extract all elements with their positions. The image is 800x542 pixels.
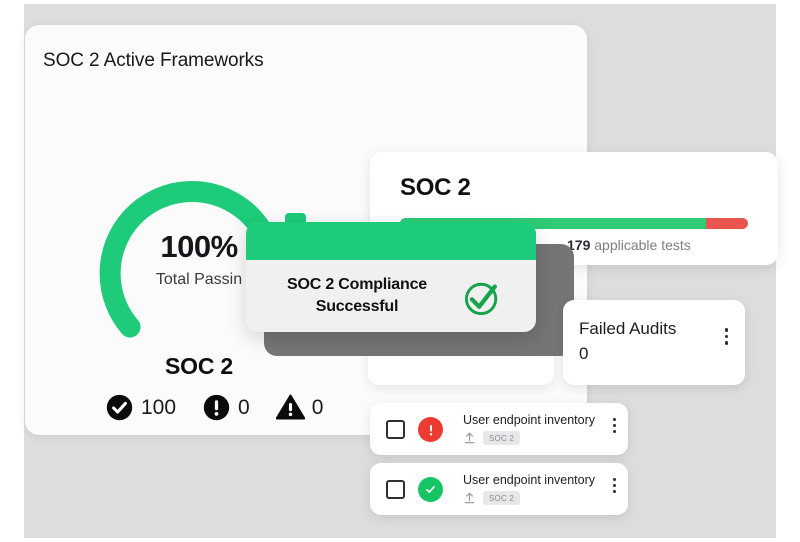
dialog-message-line2: Successful — [272, 296, 442, 318]
upload-arrow-icon — [463, 431, 476, 445]
stats-framework-label: SOC 2 — [125, 353, 273, 380]
applicable-tests-text: 179 applicable tests — [567, 237, 691, 253]
upload-arrow-icon — [463, 491, 476, 505]
check-circle-icon — [105, 393, 134, 422]
row-status-badge — [418, 477, 443, 502]
stat-passing-value: 100 — [141, 396, 176, 420]
dialog-header-bar — [246, 222, 536, 260]
failed-audits-value: 0 — [579, 344, 588, 364]
check-circle-outline-icon — [460, 276, 504, 320]
row-status-badge — [418, 417, 443, 442]
kebab-menu-icon[interactable] — [613, 478, 616, 493]
dialog-body: SOC 2 Compliance Successful — [246, 260, 536, 332]
row-checkbox[interactable] — [386, 480, 405, 499]
screen-root: SOC 2 Active Frameworks 100% Total Passi… — [0, 0, 800, 542]
exclamation-circle-icon — [202, 393, 231, 422]
kebab-menu-icon[interactable] — [725, 328, 729, 345]
list-item[interactable]: User endpoint inventory SOC 2 — [370, 403, 628, 455]
row-framework-badge: SOC 2 — [483, 491, 520, 505]
compliance-success-dialog[interactable]: SOC 2 Compliance Successful — [246, 222, 536, 332]
stat-warnings: 0 — [276, 393, 324, 422]
stats-row: 100 0 0 — [105, 393, 323, 422]
stat-warnings-value: 0 — [312, 396, 324, 420]
failed-audits-card[interactable]: Failed Audits 0 — [563, 300, 745, 385]
applicable-tests-label: applicable tests — [594, 237, 691, 253]
kebab-menu-icon[interactable] — [613, 418, 616, 433]
list-item[interactable]: User endpoint inventory SOC 2 — [370, 463, 628, 515]
dialog-message: SOC 2 Compliance Successful — [272, 274, 442, 317]
row-meta: SOC 2 — [463, 431, 520, 445]
exclamation-circle-icon — [423, 422, 439, 438]
stat-passing: 100 — [105, 393, 176, 422]
warning-triangle-icon — [276, 393, 305, 422]
row-checkbox[interactable] — [386, 420, 405, 439]
stat-errors: 0 — [202, 393, 250, 422]
row-title: User endpoint inventory — [463, 413, 595, 427]
stat-errors-value: 0 — [238, 396, 250, 420]
soc2-card-title: SOC 2 — [400, 174, 471, 202]
dialog-message-line1: SOC 2 Compliance — [272, 274, 442, 296]
page-title: SOC 2 Active Frameworks — [43, 50, 263, 72]
check-circle-icon — [423, 482, 438, 497]
progress-bar-failing — [706, 218, 748, 229]
row-title: User endpoint inventory — [463, 473, 595, 487]
row-framework-badge: SOC 2 — [483, 431, 520, 445]
failed-audits-title: Failed Audits — [579, 319, 676, 339]
row-meta: SOC 2 — [463, 491, 520, 505]
